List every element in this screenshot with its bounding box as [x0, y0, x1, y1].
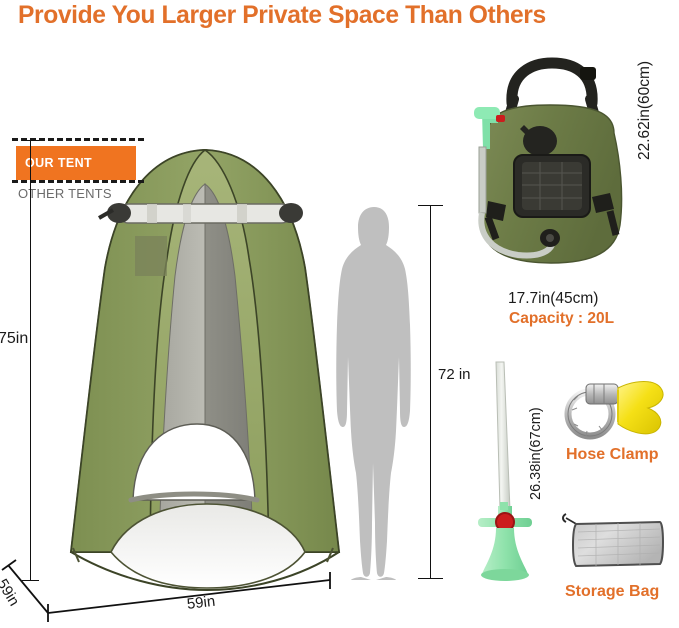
- other-tents-label: OTHER TENTS: [18, 186, 112, 201]
- other-tents-top-guide: [12, 180, 144, 183]
- tent-front-width-label: 59in: [186, 593, 216, 613]
- storage-bag-image: [556, 512, 666, 574]
- hose-clamp-image: [560, 368, 670, 446]
- tent-height-line: [30, 140, 31, 580]
- person-height-label: 72 in: [438, 366, 471, 383]
- tent-illustration: [55, 148, 355, 600]
- bag-capacity-label: Capacity : 20L: [509, 310, 614, 328]
- page-title: Provide You Larger Private Space Than Ot…: [18, 1, 658, 30]
- our-tent-label: OUR TENT: [16, 156, 92, 170]
- tent-height-cap-bottom: [22, 580, 39, 581]
- person-silhouette: [335, 205, 413, 580]
- bag-width-dimension: 17.7in(45cm): [508, 290, 598, 308]
- solar-shower-bag-image: [452, 55, 647, 285]
- tent-side-width-label: 59in: [0, 576, 23, 609]
- tent-height-label: 75in: [0, 330, 28, 348]
- person-height-line: [430, 205, 431, 578]
- hose-length-dimension: 26.38in(67cm): [528, 407, 544, 500]
- storage-bag-label: Storage Bag: [565, 583, 659, 601]
- tent-height-cap-top: [22, 140, 39, 141]
- person-height-cap-top: [418, 205, 443, 206]
- person-height-cap-bottom: [418, 578, 443, 579]
- bag-height-dimension: 22.62in(60cm): [636, 61, 654, 160]
- hose-clamp-label: Hose Clamp: [566, 446, 658, 464]
- infographic-canvas: Provide You Larger Private Space Than Ot…: [0, 0, 679, 628]
- our-tent-badge: OUR TENT: [16, 146, 136, 180]
